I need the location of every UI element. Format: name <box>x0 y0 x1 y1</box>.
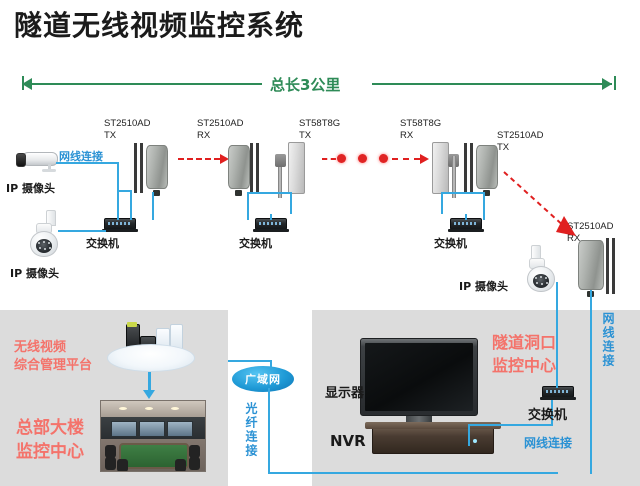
wan-node: 广域网 <box>232 366 294 392</box>
tunnel-center-label-line2: 监控中心 <box>492 352 556 376</box>
device-label-4-mode: RX <box>400 130 413 142</box>
ptz-camera-icon-1 <box>24 210 64 262</box>
device-label-5-model: ST2510AD <box>497 130 543 142</box>
cable-sw2-up <box>270 214 272 220</box>
platform-arrow-line <box>148 372 151 392</box>
cable-ptz2-down <box>556 282 558 310</box>
cable-wan-top <box>228 360 272 362</box>
cable-sw1-top <box>117 190 131 192</box>
hq-label-line1: 总部大楼 <box>16 413 84 438</box>
switch-icon-4 <box>542 386 574 398</box>
span-arrow-right-cap <box>614 76 616 90</box>
device-label-1-mode: TX <box>104 130 116 142</box>
cable-right-trunk-1 <box>556 310 558 388</box>
wireless-dot-3 <box>379 154 388 163</box>
cable-sw3-up <box>465 214 467 220</box>
cpe-device-4 <box>578 238 622 294</box>
wan-label: 广域网 <box>245 371 281 387</box>
wireless-link-2b <box>392 158 420 160</box>
switch-label-4: 交换机 <box>528 404 567 423</box>
wireless-link-2-arrow <box>420 154 429 164</box>
span-arrow-right-head <box>602 78 612 90</box>
nvr-label: NVR <box>330 432 366 450</box>
cable-wan-bottom-h <box>268 472 558 474</box>
cable-label-bottom-right-h: 网线连接 <box>524 434 572 451</box>
wireless-link-1 <box>178 158 220 160</box>
cable-dev5 <box>483 192 485 220</box>
cable-wan-bottom-v <box>268 388 270 474</box>
cable-dev3 <box>290 192 292 214</box>
ptz-camera-icon-2 <box>525 245 565 297</box>
cable-nvr-v <box>468 424 470 446</box>
device-label-1-model: ST2510AD <box>104 118 150 130</box>
hq-label-line2: 监控中心 <box>16 437 84 462</box>
span-arrow-left-cap <box>22 76 24 90</box>
camera-label-3: IP 摄像头 <box>459 278 508 294</box>
platform-arrow-head <box>143 390 155 399</box>
bullet-camera-icon <box>14 150 58 172</box>
switch-label-3: 交换机 <box>434 235 467 251</box>
switch-label-1: 交换机 <box>86 235 119 251</box>
camera-label-1: IP 摄像头 <box>6 180 55 196</box>
wireless-link-2a <box>322 158 336 160</box>
monitor-label: 显示器 <box>325 382 364 401</box>
cable-dev6-down <box>590 290 592 310</box>
panel-antenna-1 <box>272 140 316 198</box>
cable-right-trunk-2 <box>590 310 592 474</box>
cable-sw2-h <box>247 192 291 194</box>
wireless-link-3 <box>500 168 590 248</box>
wireless-dot-1 <box>337 154 346 163</box>
cable-dev1 <box>152 192 154 220</box>
cable-dev2 <box>247 192 249 220</box>
cable-cam1-h <box>56 162 118 164</box>
span-arrow-left-line <box>30 83 262 85</box>
camera-label-2: IP 摄像头 <box>10 265 59 281</box>
cable-nvr-h <box>468 424 552 426</box>
span-label: 总长3公里 <box>270 74 340 95</box>
device-label-4-model: ST58T8G <box>400 118 441 130</box>
cable-sw3-h <box>441 192 484 194</box>
cpe-device-2 <box>228 143 270 195</box>
tunnel-center-label-line1: 隧道洞口 <box>492 329 556 353</box>
nvr-icon <box>372 426 494 454</box>
cpe-device-1 <box>132 143 172 195</box>
cable-label-bottom-right-v: 网线连接 <box>600 312 617 368</box>
switch-label-2: 交换机 <box>239 235 272 251</box>
device-label-3-model: ST58T8G <box>299 118 340 130</box>
platform-label-line1: 无线视频 <box>14 336 66 355</box>
server-platform-icon <box>104 322 196 370</box>
conference-room-photo <box>100 400 206 472</box>
wireless-dot-2 <box>358 154 367 163</box>
device-label-2-mode: RX <box>197 130 210 142</box>
device-label-2-model: ST2510AD <box>197 118 243 130</box>
platform-label-line2: 综合管理平台 <box>14 354 92 373</box>
cable-wan-top-v <box>270 360 272 370</box>
cable-cam2-h <box>58 230 106 232</box>
fiber-label: 光纤连接 <box>243 402 260 458</box>
cable-dev4 <box>441 192 443 214</box>
page-title: 隧道无线视频监控系统 <box>14 12 304 40</box>
span-arrow-right-line <box>372 83 612 85</box>
